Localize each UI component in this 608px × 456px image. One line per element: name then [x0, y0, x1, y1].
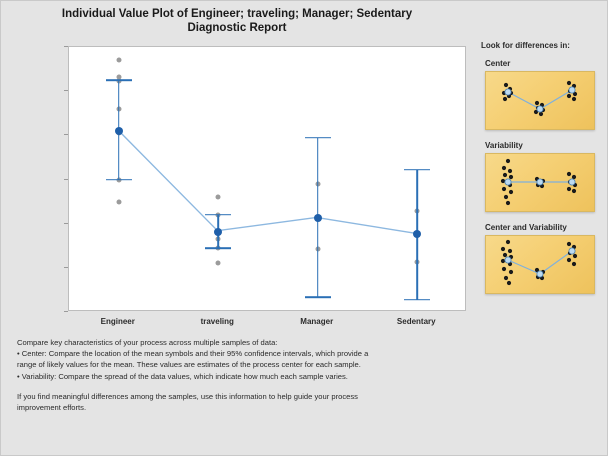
title-line-2: Diagnostic Report — [1, 21, 473, 35]
confidence-interval-cap — [205, 247, 231, 249]
panel-label-center-and-variability: Center and Variability — [485, 223, 603, 232]
confidence-interval-cap — [106, 79, 132, 81]
thumbnail-variability-graphic — [486, 154, 594, 211]
thumbnail-center-graphic — [486, 72, 594, 129]
sidebar: Look for differences in: Center — [481, 41, 603, 305]
x-axis-tick-label: traveling — [201, 317, 234, 326]
thumbnail-center-and-variability-graphic — [486, 236, 594, 293]
mean-marker — [115, 127, 123, 135]
page-title: Individual Value Plot of Engineer; trave… — [1, 7, 473, 35]
footer-line-1: Compare key characteristics of your proc… — [17, 337, 469, 348]
data-point — [116, 58, 121, 63]
y-axis-tick-mark — [64, 267, 68, 268]
thumbnail-variability — [485, 153, 595, 212]
data-point — [216, 260, 221, 265]
x-axis-tick-label: Sedentary — [397, 317, 436, 326]
diagnostic-report: Individual Value Plot of Engineer; trave… — [0, 0, 608, 456]
thumbnail-center-and-variability — [485, 235, 595, 294]
data-point — [116, 199, 121, 204]
confidence-interval-cap — [305, 297, 331, 299]
sidebar-panel-center-variability: Center and Variability — [481, 223, 603, 294]
confidence-interval-cap — [404, 169, 430, 171]
confidence-interval-cap — [305, 137, 331, 139]
footer-line-5: If you find meaningful differences among… — [17, 391, 469, 402]
confidence-interval-cap — [404, 299, 430, 301]
thumbnail-center — [485, 71, 595, 130]
y-axis-tick-mark — [64, 134, 68, 135]
confidence-interval-cap — [205, 214, 231, 216]
plot-area — [68, 46, 466, 311]
series-layer — [69, 47, 465, 310]
sidebar-panel-variability: Variability — [481, 141, 603, 212]
title-line-1: Individual Value Plot of Engineer; trave… — [1, 7, 473, 21]
y-axis-tick-mark — [64, 90, 68, 91]
y-axis-tick-mark — [64, 223, 68, 224]
mean-marker — [413, 230, 421, 238]
y-axis-tick-mark — [64, 311, 68, 312]
sidebar-heading: Look for differences in: — [481, 41, 603, 50]
confidence-interval-cap — [106, 179, 132, 181]
footer-line-6: improvement efforts. — [17, 402, 469, 413]
sidebar-panel-center: Center — [481, 59, 603, 130]
interpretation-text: Compare key characteristics of your proc… — [17, 337, 469, 413]
data-point — [216, 195, 221, 200]
y-axis-tick-mark — [64, 179, 68, 180]
y-axis-tick-mark — [64, 46, 68, 47]
mean-marker — [214, 228, 222, 236]
mean-marker — [314, 214, 322, 222]
x-axis-tick-label: Manager — [300, 317, 333, 326]
footer-line-3: range of likely values for the mean. The… — [17, 359, 469, 370]
panel-label-variability: Variability — [485, 141, 603, 150]
panel-label-center: Center — [485, 59, 603, 68]
individual-value-plot: 500000040000003000000200000010000000-100… — [1, 41, 473, 321]
footer-line-4: • Variability: Compare the spread of the… — [17, 371, 469, 382]
x-axis-tick-label: Engineer — [101, 317, 135, 326]
footer-line-2: • Center: Compare the location of the me… — [17, 348, 469, 359]
